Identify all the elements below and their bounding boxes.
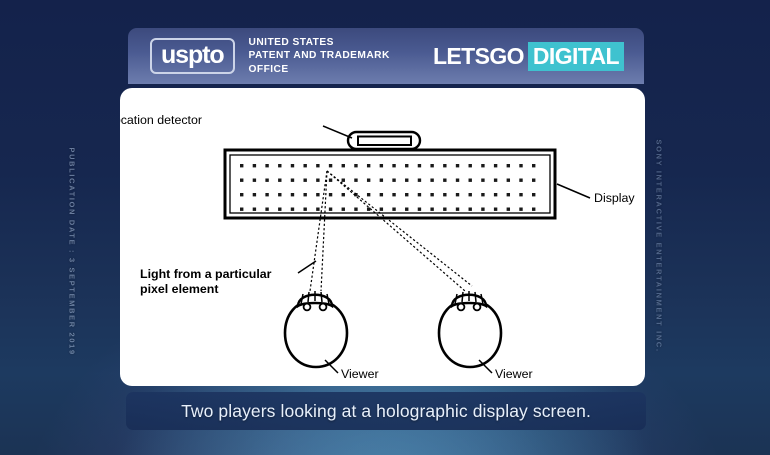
pixel-element <box>278 193 281 196</box>
pixel-element <box>469 164 472 167</box>
pixel-element <box>380 164 383 167</box>
pixel-element <box>316 193 319 196</box>
pixel-element <box>291 208 294 211</box>
caption-bar: Two players looking at a holographic dis… <box>126 392 646 430</box>
pixel-element <box>481 208 484 211</box>
pixel-element <box>278 208 281 211</box>
pixel-element <box>367 193 370 196</box>
pixel-element <box>430 164 433 167</box>
pixel-element <box>329 193 332 196</box>
pixel-element <box>507 179 510 182</box>
pixel-element <box>494 179 497 182</box>
pixel-element <box>278 179 281 182</box>
pixel-element <box>240 208 243 211</box>
pixel-element <box>418 193 421 196</box>
pixel-element <box>519 179 522 182</box>
pixel-element <box>265 193 268 196</box>
pixel-element <box>253 164 256 167</box>
pixel-element <box>367 164 370 167</box>
pixel-element <box>443 164 446 167</box>
light-source-label: Light from a particular pixel element <box>140 267 275 296</box>
assignee-label: SONY INTERACTIVE ENTERTAINMENT INC. <box>655 140 664 340</box>
uspto-office-line1: UNITED STATES <box>249 36 433 49</box>
pixel-element <box>291 164 294 167</box>
pixel-element <box>456 179 459 182</box>
pixel-element <box>405 193 408 196</box>
pixel-element <box>316 179 319 182</box>
publication-date-label: PUBLICATION DATE : 3 SEPTEMBER 2019 <box>68 148 77 348</box>
pixel-element <box>532 164 535 167</box>
pixel-element <box>443 193 446 196</box>
viewer-head-right <box>439 291 501 367</box>
pixel-element <box>342 179 345 182</box>
pixel-element <box>380 208 383 211</box>
uspto-header-bar: uspto UNITED STATES PATENT AND TRADEMARK… <box>128 28 644 84</box>
pixel-element <box>456 208 459 211</box>
viewer-left-label: Viewer <box>341 367 379 381</box>
pixel-element <box>316 164 319 167</box>
pixel-element <box>392 208 395 211</box>
pixel-element <box>240 179 243 182</box>
pixel-element <box>367 179 370 182</box>
pixel-element <box>380 179 383 182</box>
pixel-element <box>316 208 319 211</box>
patent-figure-panel: Eye location detector Display Light from… <box>120 88 645 386</box>
pixel-element <box>354 179 357 182</box>
pixel-element <box>494 193 497 196</box>
pixel-element <box>303 179 306 182</box>
pixel-element <box>291 193 294 196</box>
pixel-element <box>507 193 510 196</box>
pixel-element <box>405 208 408 211</box>
pixel-element <box>481 164 484 167</box>
pixel-element <box>392 193 395 196</box>
pixel-element <box>342 164 345 167</box>
pixel-element <box>380 193 383 196</box>
pixel-element <box>456 164 459 167</box>
pixel-element <box>303 208 306 211</box>
pixel-element <box>303 164 306 167</box>
pixel-element <box>354 164 357 167</box>
pixel-element <box>265 164 268 167</box>
pixel-element <box>354 208 357 211</box>
pixel-element <box>430 208 433 211</box>
pixel-element <box>494 164 497 167</box>
uspto-logo-text: uspto <box>161 43 224 69</box>
eye-location-detector-device <box>348 132 420 149</box>
letsgodigital-logo-digital: DIGITAL <box>528 42 624 71</box>
pixel-element <box>303 193 306 196</box>
pixel-element <box>329 179 332 182</box>
pixel-element <box>253 208 256 211</box>
pixel-element <box>494 208 497 211</box>
eye-detector-leader-line <box>323 126 352 138</box>
pixel-element <box>253 179 256 182</box>
pixel-element <box>443 179 446 182</box>
pixel-element <box>430 179 433 182</box>
pixel-element <box>532 208 535 211</box>
pixel-element <box>469 193 472 196</box>
pixel-element <box>430 193 433 196</box>
pixel-element <box>418 208 421 211</box>
pixel-element <box>342 193 345 196</box>
pixel-element <box>405 164 408 167</box>
pixel-element <box>291 179 294 182</box>
caption-text: Two players looking at a holographic dis… <box>181 401 591 422</box>
display-label: Display <box>594 191 635 205</box>
pixel-element <box>240 164 243 167</box>
pixel-element <box>519 208 522 211</box>
pixel-element <box>278 164 281 167</box>
pixel-element <box>342 208 345 211</box>
pixel-element <box>456 193 459 196</box>
uspto-office-name: UNITED STATES PATENT AND TRADEMARK OFFIC… <box>249 36 433 75</box>
letsgodigital-logo: LETSGO DIGITAL <box>433 42 624 71</box>
patent-figure-drawing: Eye location detector Display Light from… <box>120 88 645 386</box>
eye-detector-label: Eye location detector <box>120 113 202 127</box>
pixel-element <box>469 179 472 182</box>
pixel-element <box>405 179 408 182</box>
display-leader-line <box>557 184 590 198</box>
pixel-element <box>329 208 332 211</box>
pixel-element <box>507 208 510 211</box>
viewer-head-left <box>285 291 347 367</box>
pixel-element <box>519 193 522 196</box>
pixel-element <box>392 179 395 182</box>
screenshot-root: PUBLICATION DATE : 3 SEPTEMBER 2019 SONY… <box>0 0 770 455</box>
pixel-element <box>418 164 421 167</box>
pixel-element <box>443 208 446 211</box>
uspto-logo: uspto <box>150 38 235 75</box>
pixel-element <box>240 193 243 196</box>
pixel-element <box>329 164 332 167</box>
pixel-element <box>418 179 421 182</box>
display-panel <box>225 150 555 218</box>
pixel-element <box>481 179 484 182</box>
viewer-right-label: Viewer <box>495 367 533 381</box>
pixel-element <box>469 208 472 211</box>
pixel-element <box>367 208 370 211</box>
pixel-element <box>481 193 484 196</box>
pixel-element <box>265 208 268 211</box>
pixel-element <box>253 193 256 196</box>
uspto-office-line2: PATENT AND TRADEMARK OFFICE <box>249 49 433 75</box>
letsgodigital-logo-letsgo: LETSGO <box>433 42 528 71</box>
pixel-element <box>519 164 522 167</box>
pixel-element <box>507 164 510 167</box>
pixel-element <box>265 179 268 182</box>
pixel-element <box>532 193 535 196</box>
pixel-element <box>392 164 395 167</box>
pixel-element <box>532 179 535 182</box>
